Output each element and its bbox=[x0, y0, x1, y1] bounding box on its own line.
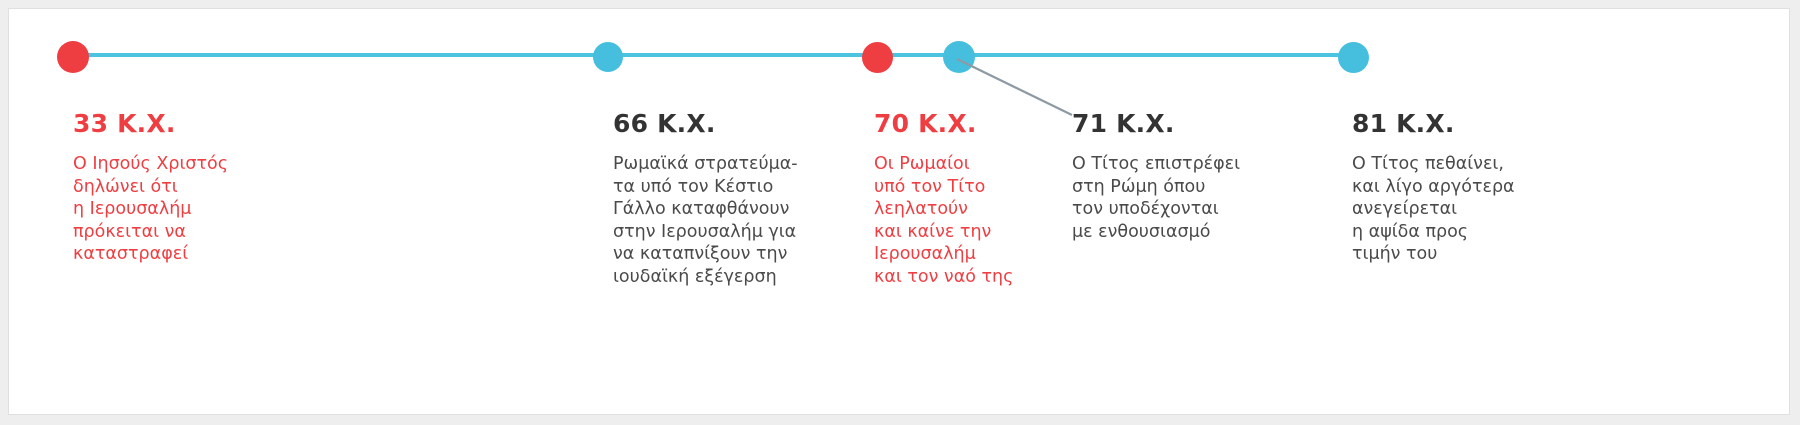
entry-line: τα υπό τον Κέστιο bbox=[613, 176, 798, 199]
entry-line: τιμήν του bbox=[1352, 243, 1515, 266]
entry-body: Ο Τίτος επιστρέφει στη Ρώμη όπου τον υπο… bbox=[1072, 153, 1240, 243]
entry-line: λεηλατούν bbox=[874, 198, 1013, 221]
entry-line: Ιερουσαλήμ bbox=[874, 243, 1013, 266]
entry-line: Γάλλο καταφθάνουν bbox=[613, 198, 798, 221]
entry-body: Ρωμαϊκά στρατεύμα- τα υπό τον Κέστιο Γάλ… bbox=[613, 153, 798, 289]
timeline-entry-33: 33 Κ.Χ. Ο Ιησούς Χριστός δηλώνει ότι η Ι… bbox=[73, 109, 228, 266]
timeline-dot-81[interactable] bbox=[1338, 42, 1369, 73]
timeline-axis bbox=[65, 53, 1355, 57]
entry-line: υπό τον Τίτο bbox=[874, 176, 1013, 199]
timeline-entry-66: 66 Κ.Χ. Ρωμαϊκά στρατεύμα- τα υπό τον Κέ… bbox=[613, 109, 798, 289]
entry-line: Ο Τίτος επιστρέφει bbox=[1072, 153, 1240, 176]
entry-line: πρόκειται να bbox=[73, 221, 228, 244]
entry-year: 70 Κ.Χ. bbox=[874, 109, 1013, 139]
timeline-card: 33 Κ.Χ. Ο Ιησούς Χριστός δηλώνει ότι η Ι… bbox=[8, 8, 1790, 415]
entry-line: καταστραφεί bbox=[73, 243, 228, 266]
timeline-entry-70: 70 Κ.Χ. Οι Ρωμαίοι υπό τον Τίτο λεηλατού… bbox=[874, 109, 1013, 289]
entry-line: και καίνε την bbox=[874, 221, 1013, 244]
entry-line: Ο Τίτος πεθαίνει, bbox=[1352, 153, 1515, 176]
entry-year: 66 Κ.Χ. bbox=[613, 109, 798, 139]
entry-line: Ρωμαϊκά στρατεύμα- bbox=[613, 153, 798, 176]
entry-year: 33 Κ.Χ. bbox=[73, 109, 228, 139]
entry-line: η Ιερουσαλήμ bbox=[73, 198, 228, 221]
entry-line: στην Ιερουσαλήμ για bbox=[613, 221, 798, 244]
entry-year: 81 Κ.Χ. bbox=[1352, 109, 1515, 139]
timeline-dot-33[interactable] bbox=[57, 41, 89, 73]
entry-line: και λίγο αργότερα bbox=[1352, 176, 1515, 199]
timeline-entry-71: 71 Κ.Χ. Ο Τίτος επιστρέφει στη Ρώμη όπου… bbox=[1072, 109, 1240, 243]
entry-body: Οι Ρωμαίοι υπό τον Τίτο λεηλατούν και κα… bbox=[874, 153, 1013, 289]
timeline-dot-70[interactable] bbox=[862, 42, 893, 73]
entry-line: να καταπνίξουν την bbox=[613, 243, 798, 266]
entry-line: ανεγείρεται bbox=[1352, 198, 1515, 221]
entry-line: στη Ρώμη όπου bbox=[1072, 176, 1240, 199]
entry-line: η αψίδα προς bbox=[1352, 221, 1515, 244]
timeline-entry-81: 81 Κ.Χ. Ο Τίτος πεθαίνει, και λίγο αργότ… bbox=[1352, 109, 1515, 266]
timeline-dot-66[interactable] bbox=[593, 42, 623, 72]
entry-line: με ενθουσιασμό bbox=[1072, 221, 1240, 244]
entry-body: Ο Τίτος πεθαίνει, και λίγο αργότερα ανεγ… bbox=[1352, 153, 1515, 266]
entry-body: Ο Ιησούς Χριστός δηλώνει ότι η Ιερουσαλή… bbox=[73, 153, 228, 266]
entry-line: και τον ναό της bbox=[874, 266, 1013, 289]
entry-line: δηλώνει ότι bbox=[73, 176, 228, 199]
entry-line: τον υποδέχονται bbox=[1072, 198, 1240, 221]
entry-line: Ο Ιησούς Χριστός bbox=[73, 153, 228, 176]
entry-year: 71 Κ.Χ. bbox=[1072, 109, 1240, 139]
entry-line: Οι Ρωμαίοι bbox=[874, 153, 1013, 176]
entry-line: ιουδαϊκή εξέγερση bbox=[613, 266, 798, 289]
